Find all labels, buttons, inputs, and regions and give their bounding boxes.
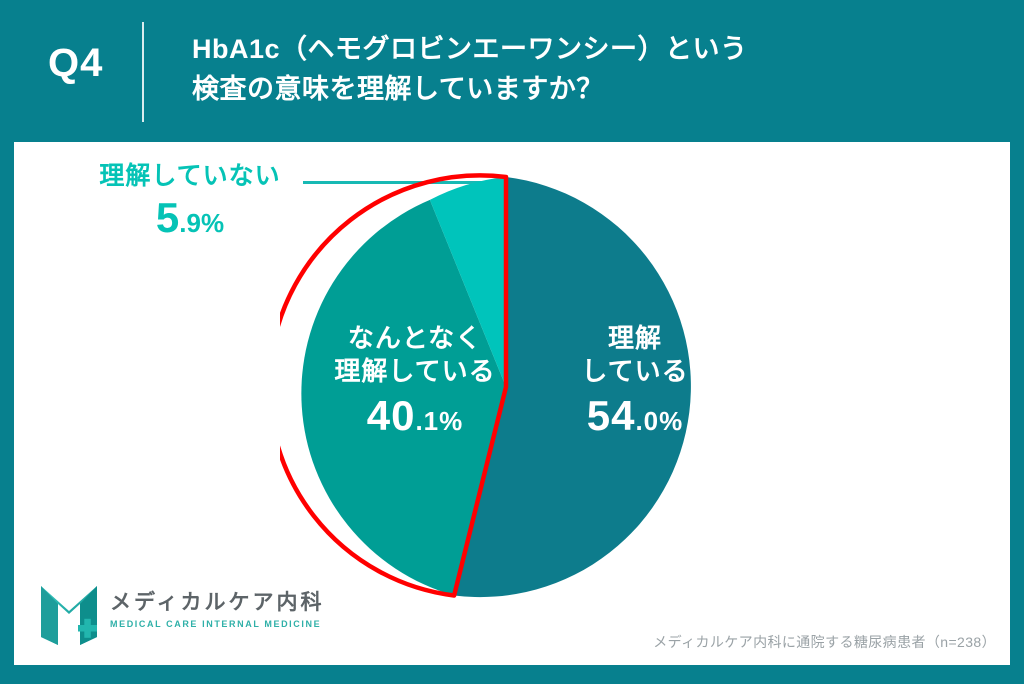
question-title: HbA1c（ヘモグロビンエーワンシー）という 検査の意味を理解していますか？ <box>192 30 982 110</box>
header-divider <box>142 22 144 122</box>
question-title-line1: HbA1c（ヘモグロビンエーワンシー）という <box>192 30 982 70</box>
logo-mark-icon <box>38 583 100 645</box>
logo-name-en: MEDICAL CARE INTERNAL MEDICINE <box>110 619 340 629</box>
logo-text: メディカルケア内科 MEDICAL CARE INTERNAL MEDICINE <box>110 591 340 629</box>
question-title-line2: 検査の意味を理解していますか？ <box>192 70 982 110</box>
callout-value-decimal: .9% <box>179 208 224 238</box>
pie-chart-svg <box>280 160 740 620</box>
brand-logo: メディカルケア内科 MEDICAL CARE INTERNAL MEDICINE <box>38 583 288 647</box>
pie-chart <box>280 160 740 620</box>
question-number: Q4 <box>48 43 144 83</box>
infographic-slide: Q4 HbA1c（ヘモグロビンエーワンシー）という 検査の意味を理解していますか… <box>0 0 1024 684</box>
sample-footnote: メディカルケア内科に通院する糖尿病患者（n=238） <box>653 632 996 652</box>
header-band: Q4 HbA1c（ヘモグロビンエーワンシー）という 検査の意味を理解していますか… <box>0 0 1024 142</box>
logo-name-jp: メディカルケア内科 <box>110 591 340 614</box>
callout-value-integer: 5 <box>156 194 179 241</box>
m-plus-shield-icon <box>38 583 100 645</box>
